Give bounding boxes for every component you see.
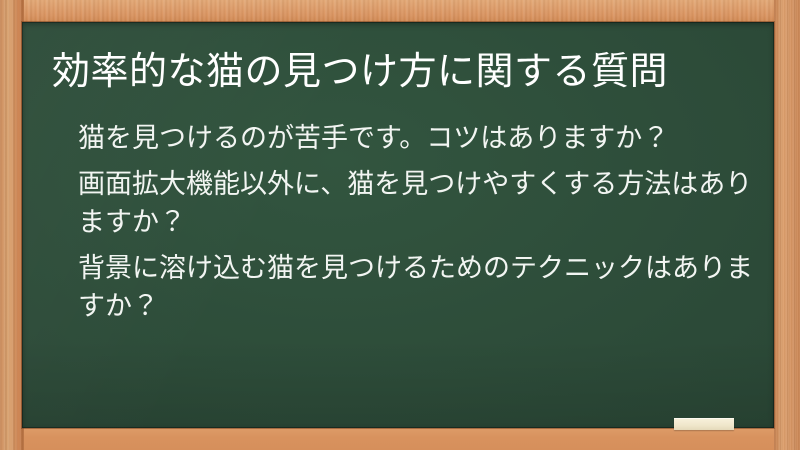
slide-title: 効率的な猫の見つけ方に関する質問 — [52, 48, 772, 94]
list-item: 画面拡大機能以外に、猫を見つけやすくする方法はありますか？ — [78, 166, 768, 242]
chalk-eraser-icon — [674, 418, 734, 430]
blackboard-slide: 効率的な猫の見つけ方に関する質問 猫を見つけるのが苦手です。コツはありますか？ … — [0, 0, 800, 450]
wood-frame-top-rail — [0, 0, 800, 22]
list-item: 猫を見つけるのが苦手です。コツはありますか？ — [78, 120, 768, 158]
wood-frame-bottom-rail — [0, 428, 800, 450]
wood-frame-right-rail — [774, 0, 800, 450]
question-list: 猫を見つけるのが苦手です。コツはありますか？ 画面拡大機能以外に、猫を見つけやす… — [78, 120, 768, 334]
list-item: 背景に溶け込む猫を見つけるためのテクニックはありますか？ — [78, 250, 768, 326]
blackboard-surface: 効率的な猫の見つけ方に関する質問 猫を見つけるのが苦手です。コツはありますか？ … — [22, 22, 774, 428]
wood-frame-left-rail — [0, 0, 24, 450]
